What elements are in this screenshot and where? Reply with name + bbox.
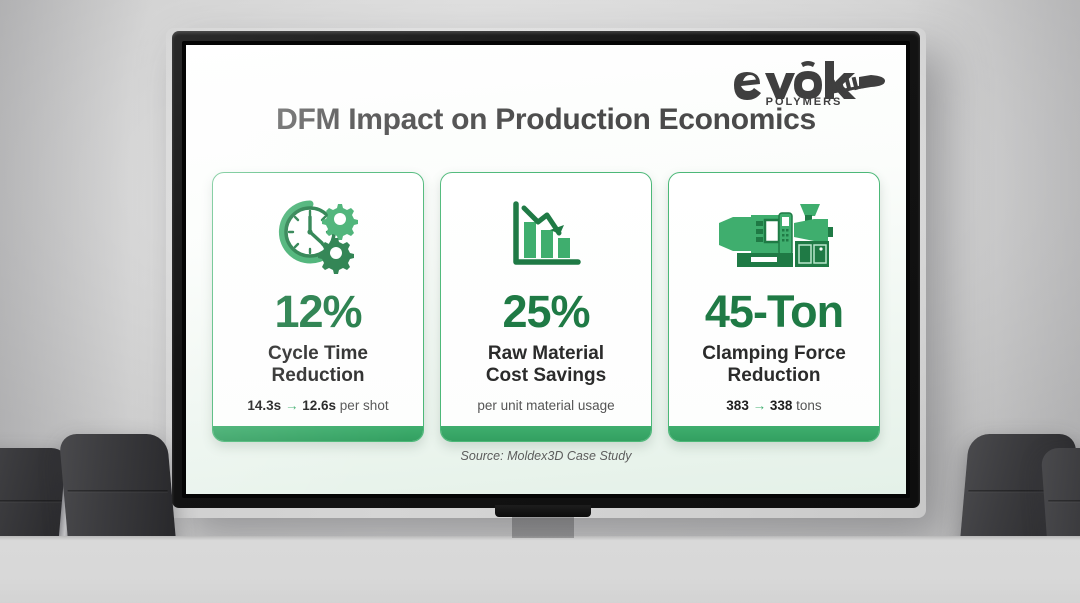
stat-value: 12% [274, 289, 361, 334]
stat-sub-tail: per shot [340, 398, 389, 413]
stat-card-clamping-force: 45-Ton Clamping Force Reduction 383 → 33… [668, 172, 880, 442]
stat-sub-after: 338 [770, 398, 793, 413]
declining-bar-chart-icon [500, 195, 592, 277]
card-accent-bar [669, 426, 879, 441]
stat-label-line2: Cost Savings [486, 365, 606, 386]
stat-label: Raw Material Cost Savings [480, 343, 612, 387]
card-accent-bar [441, 426, 651, 441]
stat-cards-row: 12% Cycle Time Reduction 14.3s → 12.6s p… [212, 172, 880, 440]
conference-table [0, 536, 1080, 603]
stat-label-line2: Reduction [272, 365, 365, 386]
stat-value: 25% [502, 289, 589, 334]
stat-label: Clamping Force Reduction [696, 343, 852, 387]
injection-molding-machine-icon [715, 195, 833, 277]
stat-card-raw-material: 25% Raw Material Cost Savings per unit m… [440, 172, 652, 442]
stat-label-line1: Cycle Time [268, 343, 368, 364]
stat-sub-before: 14.3s [247, 398, 281, 413]
stat-label: Cycle Time Reduction [262, 343, 374, 387]
card-accent-bar [213, 426, 423, 441]
tv-bezel-chin [495, 505, 591, 517]
stat-label-line1: Clamping Force [702, 343, 846, 364]
clock-gears-icon [272, 195, 364, 277]
slide-title: DFM Impact on Production Economics [186, 103, 906, 137]
stat-sub-tail: tons [796, 398, 822, 413]
evok-polymers-logo: POLYMERS [728, 55, 888, 109]
arrow-right-icon: → [753, 398, 767, 413]
presentation-slide: POLYMERS DFM Impact on Production Econom… [186, 45, 906, 494]
stat-subtext: per unit material usage [472, 398, 619, 413]
stat-value: 45-Ton [705, 289, 843, 334]
stat-label-line2: Reduction [728, 365, 821, 386]
source-note: Source: Moldex3D Case Study [186, 449, 906, 463]
stat-sub-after: 12.6s [302, 398, 336, 413]
arrow-right-icon: → [285, 398, 299, 413]
conference-room-scene: POLYMERS DFM Impact on Production Econom… [0, 0, 1080, 603]
stat-sub-before: 383 [726, 398, 749, 413]
stat-subtext: 383 → 338 tons [721, 398, 826, 413]
stat-card-cycle-time: 12% Cycle Time Reduction 14.3s → 12.6s p… [212, 172, 424, 442]
stat-label-line1: Raw Material [488, 343, 604, 364]
stat-subtext: 14.3s → 12.6s per shot [242, 398, 393, 413]
